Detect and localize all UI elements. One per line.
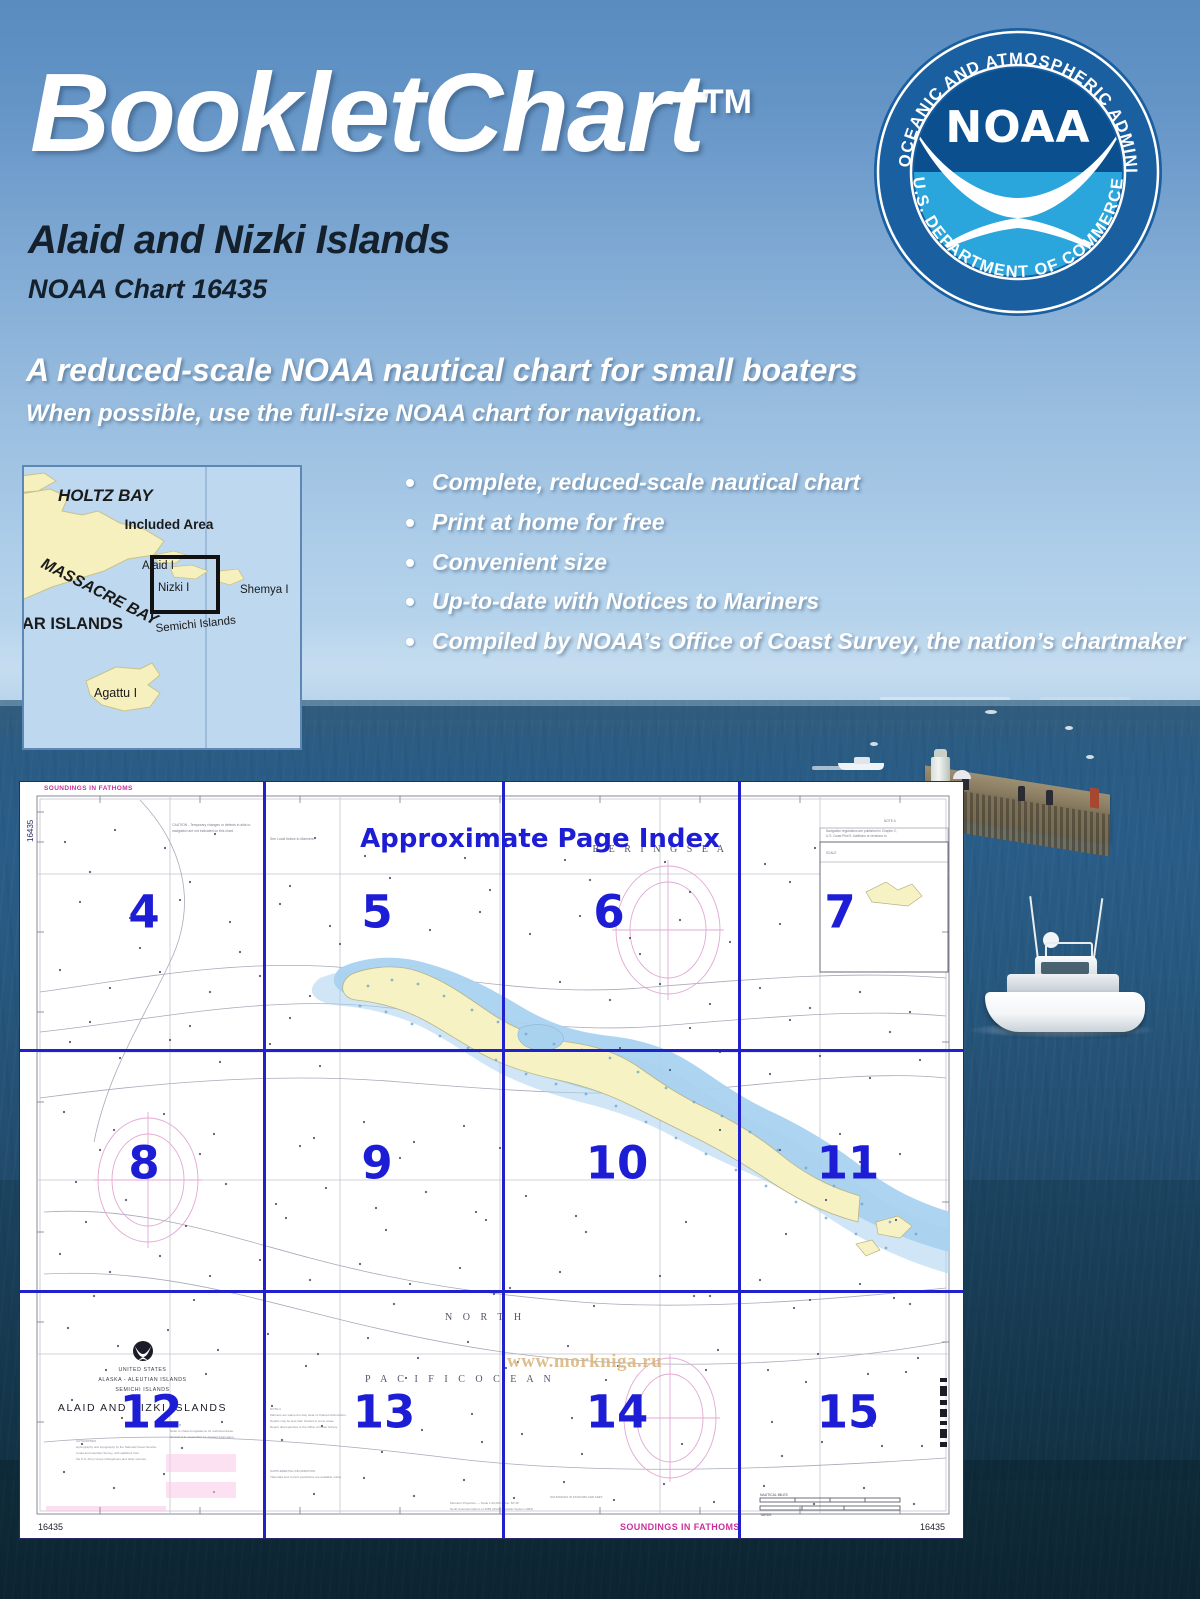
locator-label-shemya: Shemya I [240, 584, 289, 596]
svg-text:Hydrography and topography by: Hydrography and topography by the Nation… [76, 1445, 157, 1449]
feature-item: Convenient size [396, 550, 1176, 576]
titleblock-line-2: ALASKA - ALEUTIAN ISLANDS [55, 1376, 230, 1386]
tagline-secondary: When possible, use the full-size NOAA ch… [26, 400, 703, 428]
wordmark-text: BookletChart [30, 51, 703, 175]
svg-text:Mariners are warned to stay cl: Mariners are warned to stay clear of cha… [270, 1413, 347, 1417]
page-number-cell[interactable]: 15 [817, 1390, 880, 1435]
page-number-cell[interactable]: 7 [824, 890, 855, 935]
index-gridline-horizontal [20, 1290, 963, 1293]
svg-text:NOTE C: NOTE C [270, 1407, 282, 1411]
svg-text:navigation are not indicated o: navigation are not indicated on this cha… [172, 829, 234, 833]
svg-text:Report discrepancies to the Of: Report discrepancies to the Office of Co… [270, 1425, 338, 1429]
chart-note-soundings-bottom: SOUNDINGS IN FATHOMS [620, 1522, 740, 1532]
person-figure [1046, 790, 1053, 805]
locator-label-agattu: Agattu I [94, 686, 137, 700]
page-number-cell[interactable]: 14 [586, 1390, 649, 1435]
page-number-cell[interactable]: 11 [817, 1141, 880, 1186]
locator-label-near-islands: AR ISLANDS [24, 615, 123, 633]
chart-id-left: 16435 [38, 1522, 63, 1532]
distant-boat [838, 757, 884, 770]
svg-text:SUPPLEMENTAL INFORMATION: SUPPLEMENTAL INFORMATION [270, 1469, 315, 1473]
locator-label-included-area: Included Area [125, 517, 214, 532]
chart-number: NOAA Chart 16435 [28, 274, 267, 305]
locator-label-holtz-bay: HOLTZ BAY [58, 486, 154, 505]
svg-text:the U.S. Army Corps of Enginee: the U.S. Army Corps of Engineers and oth… [76, 1457, 147, 1461]
person-figure [1018, 786, 1025, 801]
chart-note-soundings-top: SOUNDINGS IN FATHOMS [44, 785, 133, 792]
noaa-seal-logo: NOAA NATIONAL OCEANIC AND ATMOSPHERIC AD… [868, 22, 1168, 322]
svg-text:AUTHORITIES: AUTHORITIES [76, 1439, 96, 1443]
svg-text:North American Datum of 1983 (: North American Datum of 1983 (World Geod… [450, 1507, 533, 1511]
svg-text:Coast and Geodetic Survey, wit: Coast and Geodetic Survey, with addition… [76, 1451, 140, 1455]
chart-label-pacific-ocean: P A C I F I C O C E A N [365, 1374, 555, 1385]
trademark-symbol: TM [703, 83, 752, 121]
gull-icon [985, 710, 997, 714]
locator-map: HOLTZ BAY Included Area MASSACRE BAY AR … [22, 465, 302, 750]
svg-text:YARDS: YARDS [760, 1513, 772, 1517]
locator-label-alaid: Alaid I [142, 560, 174, 572]
page-number-cell[interactable]: 9 [361, 1141, 392, 1186]
titleblock-line-1: UNITED STATES [55, 1366, 230, 1376]
svg-text:SCALE: SCALE [826, 851, 836, 855]
svg-text:U.S. Coast Pilot 9. Additions: U.S. Coast Pilot 9. Additions or revisio… [826, 834, 887, 838]
chart-title: Alaid and Nizki Islands [28, 218, 450, 263]
gull-icon [1086, 755, 1094, 759]
tagline-primary: A reduced-scale NOAA nautical chart for … [26, 352, 858, 389]
chart-id-side: 16435 [26, 820, 35, 842]
index-gridline-vertical [738, 782, 741, 1538]
chart-id-right: 16435 [920, 1522, 945, 1532]
index-gridline-vertical [502, 782, 505, 1538]
feature-item: Compiled by NOAA’s Office of Coast Surve… [396, 629, 1176, 655]
svg-text:NAUTICAL MILES: NAUTICAL MILES [760, 1493, 788, 1497]
page-number-cell[interactable]: 8 [128, 1141, 159, 1186]
index-gridline-vertical [263, 782, 266, 1538]
gull-icon [1065, 726, 1073, 730]
page-number-cell[interactable]: 12 [120, 1390, 183, 1435]
gull-icon [870, 742, 878, 746]
pier-marker [1090, 787, 1099, 808]
motorboat [985, 930, 1150, 1040]
watermark: www.morkniga.ru [507, 1351, 662, 1373]
index-gridline-horizontal [20, 1049, 963, 1052]
page-number-cell[interactable]: 13 [353, 1390, 416, 1435]
feature-item: Complete, reduced-scale nautical chart [396, 470, 1176, 496]
chart-label-north: N O R T H [445, 1312, 525, 1323]
noaa-mini-logo-icon [132, 1340, 154, 1362]
page-number-cell[interactable]: 5 [361, 890, 392, 935]
locator-label-nizki: Nizki I [158, 582, 189, 594]
noaa-acronym-text: NOAA [945, 102, 1090, 153]
svg-text:Tidal data and current predict: Tidal data and current predictions are a… [270, 1475, 342, 1479]
page-index-title: Approximate Page Index [360, 824, 720, 854]
feature-list: Complete, reduced-scale nautical chart P… [396, 470, 1176, 669]
svg-text:NOTE A: NOTE A [884, 819, 897, 823]
page-number-cell[interactable]: 6 [593, 890, 624, 935]
page-index-chart: B E R I N G S E A N O R T H P A C I F I … [19, 781, 964, 1539]
svg-text:SOUNDINGS IN FATHOMS AND FEET: SOUNDINGS IN FATHOMS AND FEET [550, 1495, 603, 1499]
feature-item: Print at home for free [396, 510, 1176, 536]
page-number-cell[interactable]: 10 [586, 1141, 649, 1186]
svg-text:Navigation regulations are pub: Navigation regulations are published in … [826, 829, 897, 833]
booklet-chart-wordmark: BookletChartTM [30, 58, 752, 169]
page-number-cell[interactable]: 4 [128, 890, 159, 935]
svg-text:CAUTION - Temporary changes or: CAUTION - Temporary changes or defects i… [172, 823, 250, 827]
feature-item: Up-to-date with Notices to Mariners [396, 589, 1176, 615]
svg-text:Mercator Projection — Scale 1:: Mercator Projection — Scale 1:20,000 at … [450, 1501, 520, 1505]
svg-text:See Local Notice to Mariners.: See Local Notice to Mariners. [270, 837, 315, 841]
svg-text:Depths may be less than charte: Depths may be less than charted in some … [270, 1419, 335, 1423]
